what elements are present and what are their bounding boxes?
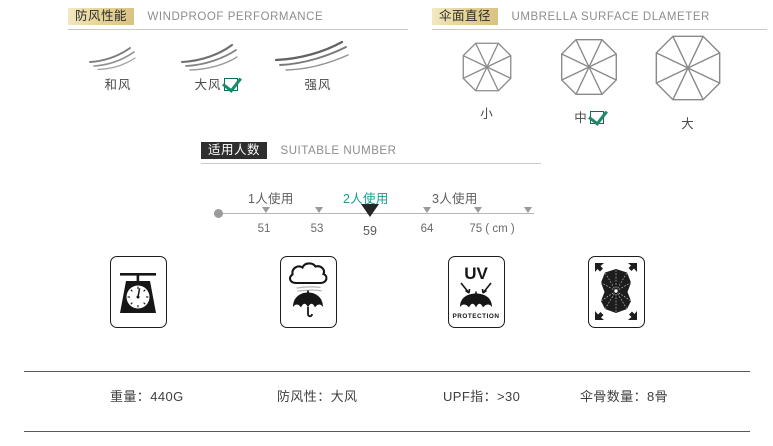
wind-level-option-2[interactable]: 强风 <box>272 40 364 94</box>
spec-value: 8骨 <box>647 389 668 404</box>
spec-rib-count: 伞骨数量：8骨 <box>580 386 668 405</box>
svg-text:UV: UV <box>464 264 488 283</box>
section-badge-suitable: 适用人数 <box>201 142 267 159</box>
section-rule-suitable <box>201 163 541 164</box>
spec-value: 440G <box>150 389 183 404</box>
umbrella-size-option-0[interactable]: 小 <box>455 40 519 123</box>
spec-label: UPF指： <box>443 389 497 404</box>
slider-people-label-current: 2人使用 <box>343 188 389 207</box>
checkmark-icon <box>224 78 238 91</box>
feature-icon-uv-protection: UV PROTECTION <box>448 256 505 328</box>
section-badge-suitable-en: SUITABLE NUMBER <box>280 145 396 157</box>
wind-level-label: 和风 <box>104 74 131 93</box>
suitable-number-slider[interactable]: 51 53 59 64 75 ( cm ) 1人使用 2人使用 3人使用 <box>210 185 540 240</box>
slider-marker-3 <box>423 207 431 213</box>
wind-level-option-1[interactable]: 大风 <box>170 40 262 94</box>
spec-value: 大风 <box>331 389 358 404</box>
slider-marker-1 <box>315 207 323 213</box>
slider-marker-5 <box>524 207 532 213</box>
spec-value: >30 <box>497 389 520 404</box>
feature-icon-windproof <box>280 256 337 328</box>
section-badge-diameter-en: UMBRELLA SURFACE DLAMETER <box>511 11 709 23</box>
spec-label: 重量： <box>110 389 150 404</box>
slider-tick-value-1: 53 <box>299 223 335 235</box>
section-rule-windproof <box>68 29 408 30</box>
spec-windproof: 防风性：大风 <box>277 386 357 405</box>
section-badge-diameter: 伞面直径 <box>432 8 498 25</box>
slider-marker-4 <box>474 207 482 213</box>
spec-weight: 重量：440G <box>110 386 184 405</box>
section-header-windproof: 防风性能 WINDPROOF PERFORMANCE <box>68 8 323 36</box>
section-badge-windproof-en: WINDPROOF PERFORMANCE <box>147 11 323 23</box>
spec-upf: UPF指：>30 <box>443 386 520 405</box>
slider-tick-value-0: 51 <box>246 223 282 235</box>
slider-tick-value-current: 59 <box>352 224 388 238</box>
slider-tick-value-4: 75 ( cm ) <box>453 223 531 235</box>
wind-swoosh-icon <box>272 40 364 74</box>
octagon-umbrella-icon <box>652 32 724 104</box>
wind-level-option-0[interactable]: 和风 <box>72 40 164 94</box>
section-header-suitable: 适用人数 SUITABLE NUMBER <box>201 142 397 170</box>
divider-top <box>24 371 750 372</box>
slider-tick-value-3: 64 <box>409 223 445 235</box>
svg-text:PROTECTION: PROTECTION <box>453 313 500 320</box>
section-badge-windproof: 防风性能 <box>68 8 134 25</box>
checkmark-icon <box>590 111 604 124</box>
divider-bottom <box>24 431 750 432</box>
slider-marker-0 <box>262 207 270 213</box>
wind-swoosh-icon <box>72 40 164 74</box>
wind-swoosh-icon <box>170 40 262 74</box>
feature-icon-canopy-size <box>588 256 645 328</box>
spec-label: 防风性： <box>277 389 331 404</box>
slider-start-dot <box>214 209 223 218</box>
umbrella-size-label: 小 <box>480 103 494 122</box>
wind-level-label: 强风 <box>304 74 331 93</box>
umbrella-size-label: 中 <box>574 107 588 126</box>
spec-label: 伞骨数量： <box>580 389 647 404</box>
umbrella-size-option-2[interactable]: 大 <box>648 32 728 133</box>
umbrella-size-label: 大 <box>681 113 695 132</box>
umbrella-size-option-1[interactable]: 中 <box>554 36 624 127</box>
section-rule-diameter <box>432 29 767 30</box>
wind-level-label: 大风 <box>194 74 221 93</box>
octagon-umbrella-icon <box>460 40 514 94</box>
slider-people-label-0: 1人使用 <box>248 188 294 207</box>
feature-icon-weight-scale <box>110 256 167 328</box>
slider-people-label-2: 3人使用 <box>432 188 478 207</box>
octagon-umbrella-icon <box>558 36 620 98</box>
